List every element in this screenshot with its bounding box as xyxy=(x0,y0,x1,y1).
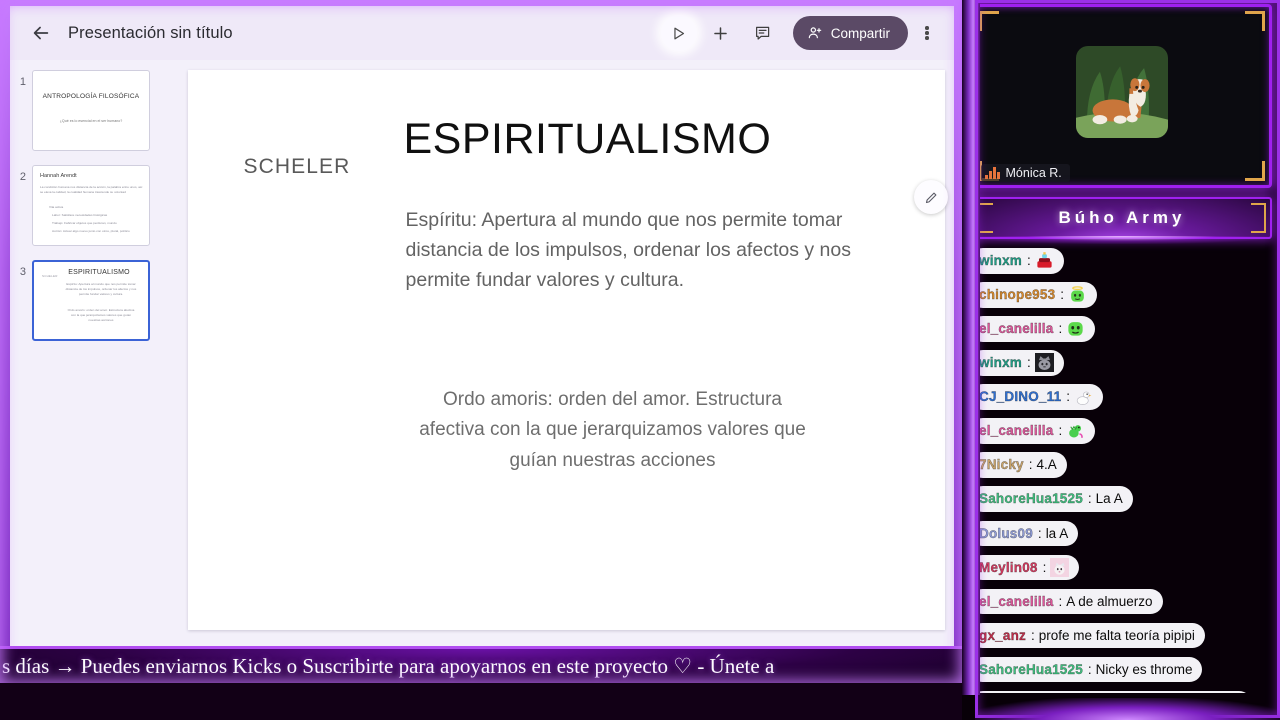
edit-floating-button[interactable] xyxy=(914,180,948,214)
thumb2-title: Hannah Arendt xyxy=(40,173,77,179)
speaker-notes-button[interactable] xyxy=(745,15,781,51)
chat-bubble: winxm: xyxy=(970,350,1064,376)
chat-username[interactable]: Meylin08 xyxy=(979,558,1038,578)
thumb1-subtitle: ¿Qué es lo esencial en el ser humano? xyxy=(41,119,141,124)
chat-header-title: Búho Army xyxy=(1059,208,1186,228)
chat-username[interactable]: el_canelilla xyxy=(979,592,1053,612)
chat-username[interactable]: SahoreHua1525 xyxy=(979,489,1083,509)
current-slide[interactable]: SCHELER ESPIRITUALISMO Espíritu: Apertur… xyxy=(188,70,945,630)
chat-message: el_canelilla: xyxy=(970,316,1274,342)
angel-face-emote xyxy=(1068,285,1087,304)
thumb2-paragraph: La condición humana nos distancia de la … xyxy=(40,185,144,195)
chat-message: chinope953: xyxy=(970,282,1274,308)
chat-text: 4.A xyxy=(1037,455,1057,475)
share-label: Compartir xyxy=(831,26,890,41)
chat-text: La A xyxy=(1096,489,1123,509)
slide-thumbnail-2[interactable]: Hannah Arendt La condición humana nos di… xyxy=(32,165,150,246)
dino-emote xyxy=(1066,422,1085,441)
chat-text: A de almuerzo xyxy=(1066,592,1152,612)
slide-number: 3 xyxy=(10,260,26,278)
present-button[interactable] xyxy=(661,15,697,51)
duck-emote xyxy=(1074,388,1093,407)
chat-text: la A xyxy=(1046,524,1069,544)
thumb3-body: Espíritu: Apertura al mundo que nos perm… xyxy=(64,282,138,296)
chat-separator: : xyxy=(1027,251,1031,271)
ticker-text: s días → Puedes enviarnos Kicks o Suscri… xyxy=(0,654,774,679)
chat-message: Meylin08: xyxy=(970,555,1274,581)
chat-separator: : xyxy=(1029,455,1033,475)
chat-separator: : xyxy=(1038,524,1042,544)
chat-username[interactable]: el_canelilla xyxy=(979,421,1053,441)
thumb2-bullet: Vita activa xyxy=(49,205,144,210)
corner-bracket-icon xyxy=(979,11,999,31)
slide-filmstrip[interactable]: 1 ANTROPOLOGÍA FILOSÓFICA ¿Qué es lo ese… xyxy=(10,60,178,675)
slide-body-text-2[interactable]: Ordo amoris: orden del amor. Estructura … xyxy=(413,385,813,476)
corner-bracket-icon xyxy=(1251,203,1266,218)
chat-message: el_canelilla: xyxy=(970,418,1274,444)
stream-side-panel: Mónica R. Búho Army winxm:chinope953:el_… xyxy=(962,0,1280,720)
chat-bubble: CJ_DINO_11: xyxy=(970,384,1103,410)
more-dot xyxy=(925,31,929,35)
pencil-icon xyxy=(924,190,939,205)
chat-bubble: Dolus09:la A xyxy=(970,521,1078,547)
chat-username[interactable]: winxm xyxy=(979,353,1022,373)
chat-message: winxm: xyxy=(970,248,1274,274)
add-slide-button[interactable] xyxy=(703,15,739,51)
thumb3-title: ESPIRITUALISMO xyxy=(56,268,142,277)
filmstrip-row: 2 Hannah Arendt La condición humana nos … xyxy=(10,165,178,246)
chat-username[interactable]: 7Nicky xyxy=(979,455,1024,475)
topbar-actions: Compartir xyxy=(661,15,940,51)
slide-left-label[interactable]: SCHELER xyxy=(244,155,351,179)
thumb3-body2: Ordo amoris: orden del amor. Estructura … xyxy=(67,308,135,322)
chat-bubble: el_canelilla:A de almuerzo xyxy=(970,589,1163,615)
webcam-panel[interactable]: Mónica R. xyxy=(972,4,1272,188)
chat-username[interactable]: el_canelilla xyxy=(979,319,1053,339)
more-dot xyxy=(925,26,929,30)
participant-name-badge: Mónica R. xyxy=(981,164,1070,182)
chat-message: winxm: xyxy=(970,350,1274,376)
corner-bracket-icon xyxy=(1245,161,1265,181)
chat-separator: : xyxy=(1027,353,1031,373)
present-icon xyxy=(670,25,687,42)
chat-bubble: el_canelilla: xyxy=(970,316,1095,342)
chat-message: 7Nicky:4.A xyxy=(970,452,1274,478)
stream-layout: Presentación sin título xyxy=(0,0,1280,720)
chat-header-panel: Búho Army xyxy=(972,197,1272,239)
chat-message: SahoreHua1525:La A xyxy=(970,486,1274,512)
chat-message: gx_anz:profe me falta teoría pipipi xyxy=(970,623,1274,649)
speaker-notes-icon xyxy=(754,24,772,42)
chat-separator: : xyxy=(1060,285,1064,305)
chat-separator: : xyxy=(1058,421,1062,441)
google-slides-window: Presentación sin título xyxy=(10,6,954,675)
green-face-emote xyxy=(1066,319,1085,338)
slides-topbar: Presentación sin título xyxy=(10,6,954,60)
chat-bubble: SahoreHua1525:Nicky es throme xyxy=(970,657,1202,683)
slide-body-text[interactable]: Espíritu: Apertura al mundo que nos perm… xyxy=(406,205,861,296)
header-glow xyxy=(972,236,1272,244)
audio-level-icon xyxy=(985,167,1000,179)
cake-emote xyxy=(1035,251,1054,270)
chat-separator: : xyxy=(1088,489,1092,509)
thumb2-bullet: Labor: Satisface necesidades biológicas xyxy=(52,213,144,218)
chat-username[interactable]: chinope953 xyxy=(979,285,1055,305)
chat-bubble: chinope953: xyxy=(970,282,1097,308)
chat-message-list[interactable]: winxm:chinope953:el_canelilla:winxm:CJ_D… xyxy=(962,248,1280,693)
chat-separator: : xyxy=(1088,660,1092,680)
slides-body: 1 ANTROPOLOGÍA FILOSÓFICA ¿Qué es lo ese… xyxy=(10,60,954,675)
stream-ticker-bar: s días → Puedes enviarnos Kicks o Suscri… xyxy=(0,646,962,683)
chat-username[interactable]: CJ_DINO_11 xyxy=(979,387,1061,407)
chat-separator: : xyxy=(1043,558,1047,578)
back-arrow-icon[interactable] xyxy=(30,22,52,44)
chat-separator: : xyxy=(1066,387,1070,407)
thumb1-title: ANTROPOLOGÍA FILOSÓFICA xyxy=(33,93,149,102)
chat-bubble: gx_anz:profe me falta teoría pipipi xyxy=(970,623,1205,649)
chat-bubble: el_canelilla: xyxy=(970,418,1095,444)
chat-bubble: SahoreHua1525:La A xyxy=(970,486,1133,512)
chat-separator: : xyxy=(1058,319,1062,339)
chat-bubble: 7Nicky:4.A xyxy=(970,452,1067,478)
chat-text: Nicky es throme xyxy=(1096,660,1193,680)
slide-thumbnail-1[interactable]: ANTROPOLOGÍA FILOSÓFICA ¿Qué es lo esenc… xyxy=(32,70,150,151)
participant-name: Mónica R. xyxy=(1006,166,1062,180)
chat-message: CJ_DINO_11: xyxy=(970,384,1274,410)
chat-username[interactable]: Dolus09 xyxy=(979,524,1033,544)
chat-message: SahoreHua1525:Nicky es throme xyxy=(970,657,1274,683)
slide-thumbnail-3[interactable]: SCHELER ESPIRITUALISMO Espíritu: Apertur… xyxy=(32,260,150,341)
cat-image-emote xyxy=(1035,353,1054,372)
slide-number: 1 xyxy=(10,70,26,88)
filmstrip-row: 3 SCHELER ESPIRITUALISMO Espíritu: Apert… xyxy=(10,260,178,341)
slide-title[interactable]: ESPIRITUALISMO xyxy=(404,115,772,164)
filmstrip-row: 1 ANTROPOLOGÍA FILOSÓFICA ¿Qué es lo ese… xyxy=(10,70,178,151)
chat-text: profe me falta teoría pipipi xyxy=(1039,626,1195,646)
plus-icon xyxy=(711,24,730,43)
chat-username[interactable]: SahoreHua1525 xyxy=(979,660,1083,680)
chat-separator: : xyxy=(1031,626,1035,646)
chat-bubble: Dolus09:ella no responde pero siempre ti… xyxy=(970,691,1252,693)
chat-message: Dolus09:ella no responde pero siempre ti… xyxy=(970,691,1274,693)
thumb2-bullet: Acción: Actuar algo nuevo junto con otro… xyxy=(52,229,144,234)
corner-bracket-icon xyxy=(978,203,993,218)
pink-cat-emote xyxy=(1050,558,1069,577)
corner-bracket-icon xyxy=(978,218,993,233)
share-button[interactable]: Compartir xyxy=(793,16,908,50)
chat-bubble: Meylin08: xyxy=(970,555,1079,581)
dog-avatar-image xyxy=(1076,46,1168,138)
chat-username[interactable]: gx_anz xyxy=(979,626,1026,646)
chat-message: Dolus09:la A xyxy=(970,521,1274,547)
corner-bracket-icon xyxy=(1245,11,1265,31)
corner-bracket-icon xyxy=(1251,218,1266,233)
more-dot xyxy=(925,36,929,40)
chat-username[interactable]: winxm xyxy=(979,251,1022,271)
slide-number: 2 xyxy=(10,165,26,183)
chat-bubble: winxm: xyxy=(970,248,1064,274)
presentation-title[interactable]: Presentación sin título xyxy=(68,24,233,43)
person-add-icon xyxy=(807,25,823,41)
slide-canvas-area: SCHELER ESPIRITUALISMO Espíritu: Apertur… xyxy=(178,60,954,675)
thumb2-bullet: Trabajo: Fabricar objetos que perduran, … xyxy=(52,221,144,226)
slides-capture-frame: Presentación sin título xyxy=(0,0,962,683)
chat-separator: : xyxy=(1058,592,1062,612)
more-options-button[interactable] xyxy=(914,15,940,51)
chat-message: el_canelilla:A de almuerzo xyxy=(970,589,1274,615)
